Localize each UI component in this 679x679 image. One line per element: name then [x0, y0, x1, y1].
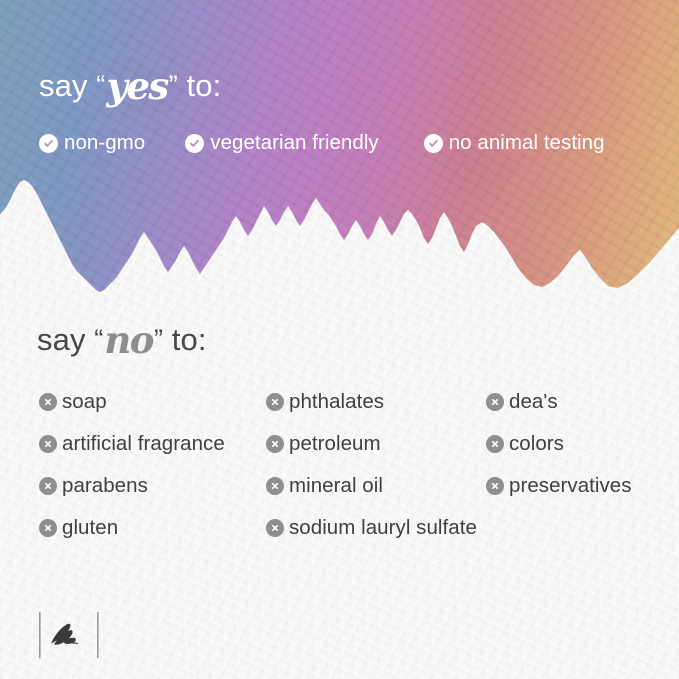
no-list-column-2: phthalates petroleum mineral oil	[266, 381, 477, 549]
no-list-item-label: soap	[62, 390, 107, 414]
yes-list-item-label: vegetarian friendly	[210, 131, 378, 155]
no-list-item-label: gluten	[62, 516, 118, 540]
x-circle-icon	[486, 435, 504, 453]
yes-heading-script-word: yes	[105, 64, 168, 108]
no-list-item: soap	[39, 381, 225, 423]
yes-heading: say “yes” to:	[39, 61, 221, 105]
yes-heading-prefix: say	[39, 68, 88, 103]
no-list-item-label: colors	[509, 432, 564, 456]
brand-logo	[38, 610, 100, 660]
check-circle-icon	[424, 134, 443, 153]
yes-heading-open-quote: “	[96, 70, 105, 100]
no-list-column-1: soap artificial fragrance parabens	[39, 381, 225, 549]
no-list-item: dea's	[486, 381, 632, 423]
x-circle-icon	[39, 519, 57, 537]
no-heading-close-quote: ”	[154, 324, 163, 354]
no-list-item-label: petroleum	[289, 432, 381, 456]
yes-list-item-label: non-gmo	[64, 131, 145, 155]
yes-list-item: non-gmo	[39, 131, 145, 155]
no-heading-script-word: no	[103, 318, 154, 362]
no-list-column-3: dea's colors preservatives	[486, 381, 632, 507]
x-circle-icon	[266, 393, 284, 411]
x-circle-icon	[486, 393, 504, 411]
check-circle-icon	[39, 134, 58, 153]
no-ingredients-list: soap artificial fragrance parabens	[0, 381, 679, 551]
yes-heading-close-quote: ”	[169, 70, 178, 100]
yes-list-item: vegetarian friendly	[185, 131, 378, 155]
logo-left-rule	[39, 612, 41, 658]
logo-monogram-glyph	[51, 624, 78, 645]
no-heading-prefix: say	[37, 322, 86, 357]
x-circle-icon	[486, 477, 504, 495]
no-list-item: parabens	[39, 465, 225, 507]
yes-heading-suffix: to:	[187, 68, 222, 103]
no-heading: say “no” to:	[37, 315, 207, 359]
yes-benefits-list: non-gmo vegetarian friendly no animal te…	[39, 131, 605, 155]
x-circle-icon	[39, 393, 57, 411]
no-list-item: phthalates	[266, 381, 477, 423]
no-list-item-label: dea's	[509, 390, 558, 414]
yes-list-item: no animal testing	[424, 131, 605, 155]
no-heading-open-quote: “	[94, 324, 103, 354]
no-list-item: mineral oil	[266, 465, 477, 507]
x-circle-icon	[266, 519, 284, 537]
no-list-item: gluten	[39, 507, 225, 549]
no-list-item-label: sodium lauryl sulfate	[289, 516, 477, 540]
x-circle-icon	[266, 435, 284, 453]
no-list-item: artificial fragrance	[39, 423, 225, 465]
no-list-item: colors	[486, 423, 632, 465]
no-list-item-label: phthalates	[289, 390, 384, 414]
no-list-item-label: artificial fragrance	[62, 432, 225, 456]
no-list-item-label: parabens	[62, 474, 148, 498]
logo-right-rule	[97, 612, 99, 658]
x-circle-icon	[266, 477, 284, 495]
x-circle-icon	[39, 477, 57, 495]
no-list-item-label: mineral oil	[289, 474, 383, 498]
no-list-item: petroleum	[266, 423, 477, 465]
promise-card: say “yes” to: non-gmo vegetarian friendl…	[0, 0, 679, 679]
no-heading-suffix: to:	[172, 322, 207, 357]
check-circle-icon	[185, 134, 204, 153]
yes-list-item-label: no animal testing	[449, 131, 605, 155]
no-list-item: preservatives	[486, 465, 632, 507]
x-circle-icon	[39, 435, 57, 453]
no-list-item: sodium lauryl sulfate	[266, 507, 477, 549]
no-list-item-label: preservatives	[509, 474, 632, 498]
